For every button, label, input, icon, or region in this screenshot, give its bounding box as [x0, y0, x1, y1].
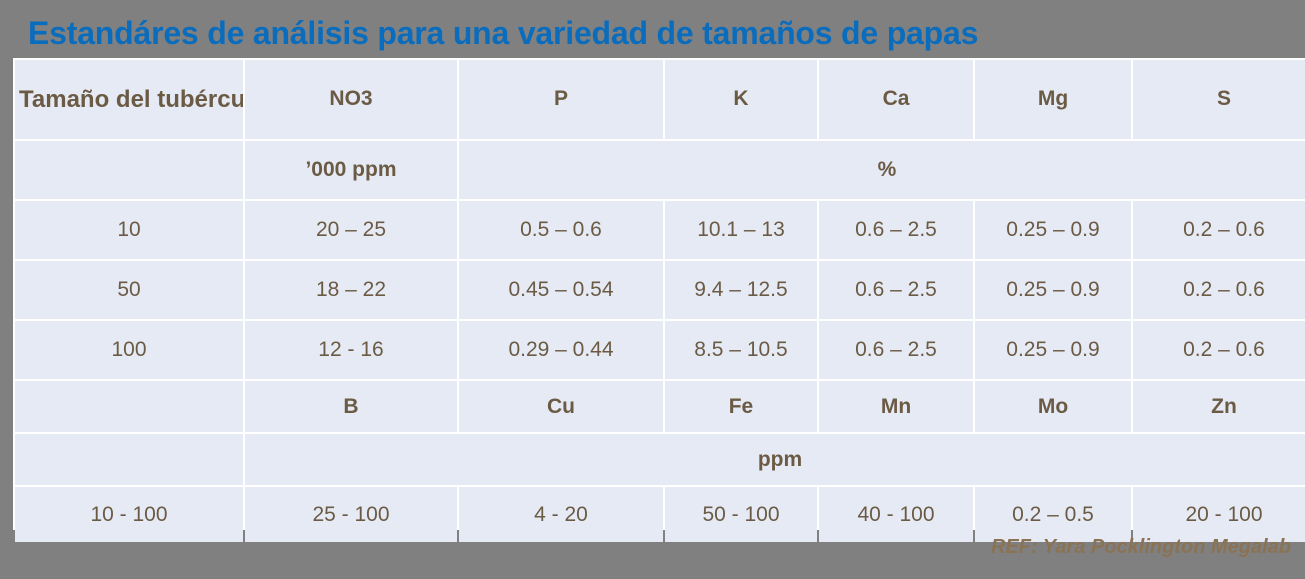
- cell-tuber-size: 10 - 100: [15, 487, 243, 542]
- micro-header-b: B: [245, 381, 457, 432]
- table-row: 50 18 – 22 0.45 – 0.54 9.4 – 12.5 0.6 – …: [15, 261, 1305, 319]
- column-header-tuber-size: Tamaño del tubérculo: [15, 60, 243, 139]
- cell-mn: 40 - 100: [819, 487, 973, 542]
- cell-tuber-size: 10: [15, 201, 243, 259]
- cell-s: 0.2 – 0.6: [1133, 261, 1305, 319]
- cell-no3: 20 – 25: [245, 201, 457, 259]
- reference-credit: REF: Yara Pocklington Megalab: [991, 536, 1291, 559]
- table: Tamaño del tubérculo NO3 P K Ca Mg S ’00…: [13, 58, 1305, 544]
- cell-p: 0.45 – 0.54: [459, 261, 663, 319]
- cell-k: 10.1 – 13: [665, 201, 817, 259]
- micro-header-mo: Mo: [975, 381, 1131, 432]
- micro-header-fe: Fe: [665, 381, 817, 432]
- cell-mg: 0.25 – 0.9: [975, 201, 1131, 259]
- slide-canvas: Estandáres de análisis para una variedad…: [0, 0, 1305, 579]
- units-blank-cell: [15, 141, 243, 199]
- cell-p: 0.5 – 0.6: [459, 201, 663, 259]
- column-header-s: S: [1133, 60, 1305, 139]
- units-no3: ’000 ppm: [245, 141, 457, 199]
- nutrient-standards-table: Tamaño del tubérculo NO3 P K Ca Mg S ’00…: [13, 58, 1305, 530]
- micro-header-mn: Mn: [819, 381, 973, 432]
- column-header-ca: Ca: [819, 60, 973, 139]
- micro-header-row: B Cu Fe Mn Mo Zn: [15, 381, 1305, 432]
- cell-tuber-size: 100: [15, 321, 243, 379]
- column-header-mg: Mg: [975, 60, 1131, 139]
- cell-b: 25 - 100: [245, 487, 457, 542]
- column-header-no3: NO3: [245, 60, 457, 139]
- micro-units-row: ppm: [15, 434, 1305, 485]
- cell-ca: 0.6 – 2.5: [819, 201, 973, 259]
- cell-mg: 0.25 – 0.9: [975, 261, 1131, 319]
- cell-tuber-size: 50: [15, 261, 243, 319]
- cell-ca: 0.6 – 2.5: [819, 321, 973, 379]
- micro-header-zn: Zn: [1133, 381, 1305, 432]
- cell-k: 9.4 – 12.5: [665, 261, 817, 319]
- micro-units-blank: [15, 434, 243, 485]
- cell-no3: 12 - 16: [245, 321, 457, 379]
- table-header-row: Tamaño del tubérculo NO3 P K Ca Mg S: [15, 60, 1305, 139]
- cell-mg: 0.25 – 0.9: [975, 321, 1131, 379]
- macro-units-row: ’000 ppm %: [15, 141, 1305, 199]
- table-row: 10 - 100 25 - 100 4 - 20 50 - 100 40 - 1…: [15, 487, 1305, 542]
- cell-no3: 18 – 22: [245, 261, 457, 319]
- cell-s: 0.2 – 0.6: [1133, 321, 1305, 379]
- table-row: 100 12 - 16 0.29 – 0.44 8.5 – 10.5 0.6 –…: [15, 321, 1305, 379]
- column-header-k: K: [665, 60, 817, 139]
- cell-cu: 4 - 20: [459, 487, 663, 542]
- cell-ca: 0.6 – 2.5: [819, 261, 973, 319]
- cell-mo: 0.2 – 0.5: [975, 487, 1131, 542]
- cell-fe: 50 - 100: [665, 487, 817, 542]
- micro-header-cu: Cu: [459, 381, 663, 432]
- cell-s: 0.2 – 0.6: [1133, 201, 1305, 259]
- cell-zn: 20 - 100: [1133, 487, 1305, 542]
- page-title: Estandáres de análisis para una variedad…: [28, 17, 978, 49]
- cell-k: 8.5 – 10.5: [665, 321, 817, 379]
- table-row: 10 20 – 25 0.5 – 0.6 10.1 – 13 0.6 – 2.5…: [15, 201, 1305, 259]
- micro-header-blank: [15, 381, 243, 432]
- units-percent: %: [459, 141, 1305, 199]
- micro-units-ppm: ppm: [245, 434, 1305, 485]
- cell-p: 0.29 – 0.44: [459, 321, 663, 379]
- column-header-p: P: [459, 60, 663, 139]
